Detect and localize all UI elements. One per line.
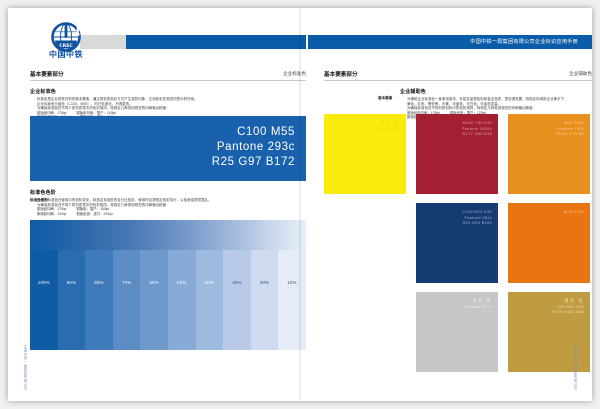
swatch-orange-light: M50 Y100Pantone 152cR255 G76 B0 (508, 114, 590, 194)
tint-specs-row-2: 新闻纸印刷：100lpi 铜版纸张：进口：200lpi (30, 212, 306, 217)
tint-swatch: 60% (140, 250, 168, 350)
swatch-spec: M50 Y100Pantone 152cR255 G76 B0 (556, 120, 584, 137)
tint-swatch-label: 20% (251, 280, 279, 285)
swatch-row: 黄色 黄Pantone 012cM100 Y80 K30Pantone 1805… (324, 114, 592, 194)
swatch-spec: M70 Y100 (564, 209, 584, 215)
left-section-tag: 企业标准色 (283, 71, 306, 77)
edge-mark-left: 中国中铁一局集团有限公司 (23, 345, 27, 391)
auxiliary-side-label: 基本要素 (378, 96, 392, 101)
edge-mark-right: 中国中铁一局集团有限公司 (573, 345, 577, 391)
tint-swatch-label: 10% (278, 280, 306, 285)
primary-color-swatch: C100 M55 Pantone 293c R25 G97 B172 (30, 116, 306, 181)
tint-swatch: 100% (30, 250, 58, 350)
swatch-spec-line: M100 Y80 K30 (462, 120, 492, 126)
swatch-spec: 银色 银Pantone 877c (464, 298, 492, 309)
swatch-crimson: M100 Y80 K30Pantone 1805cR177 G60 B18 (416, 114, 498, 194)
spec-item: 铜版纸张：进口：200lpi (76, 212, 112, 217)
swatch-gold: 黄色 金C30 M40 Y90R179 G132 B38 (508, 292, 590, 372)
standard-color-heading: 企业标准色 (30, 88, 306, 95)
tint-swatch-label: 100% (30, 280, 58, 285)
swatch-spec: C100 M75 K30Pantone 281cR10 G29 B100 (462, 209, 492, 226)
tint-swatch: 30% (223, 250, 251, 350)
tint-swatch: 40% (196, 250, 224, 350)
brand-manual-spread-page: 中国中铁一局集团有限公司企业标识应用手册 CREC 中国中铁 (0, 0, 600, 409)
tint-scale-side-label: 标准色色阶 (30, 198, 48, 203)
swatch-spec-line: Pantone 877c (464, 304, 492, 310)
right-section-tag: 企业辅助色 (569, 71, 592, 77)
swatch-cell-empty (324, 292, 406, 372)
swatch-row: 银色 银Pantone 877c黄色 金C30 M40 Y90R179 G132… (324, 292, 592, 372)
swatch-spec-line: M70 Y100 (564, 209, 584, 215)
auxiliary-line-1: 为辅助企业标准色一身家用宣传、补贴变量是色彩和复合品质，是协调充要，特规定际域用… (400, 97, 592, 102)
right-section-rule (324, 80, 592, 81)
tint-scale-heading: 标准色色阶 (30, 189, 306, 196)
tint-scale-strip: 100%90%80%70%60%50%40%30%20%10% (30, 250, 306, 350)
swatch-orange-deep: M70 Y100 (508, 203, 590, 283)
tint-swatch: 50% (168, 250, 196, 350)
swatch-spec: 黄色 黄Pantone 012c (372, 120, 400, 131)
swatch-spec-line: R177 G60 B18 (462, 131, 492, 137)
tint-swatch-label: 70% (113, 280, 141, 285)
swatch-spec-line: R179 G132 B38 (552, 309, 584, 315)
tint-swatch-label: 80% (85, 280, 113, 285)
swatch-spec: M100 Y80 K30Pantone 1805cR177 G60 B18 (462, 120, 492, 137)
svg-text:CREC: CREC (59, 43, 73, 49)
tint-swatch: 90% (58, 250, 86, 350)
tint-swatch: 10% (278, 250, 306, 350)
left-section-title: 基本要素部分 (30, 70, 64, 78)
swatch-spec-line: R10 G29 B100 (462, 220, 492, 226)
swatch-spec: 黄色 金C30 M40 Y90R179 G132 B38 (552, 298, 584, 315)
tint-swatch-label: 30% (223, 280, 251, 285)
swatch-spec-line: Pantone 012c (372, 126, 400, 132)
swatch-silver: 银色 银Pantone 877c (416, 292, 498, 372)
tint-swatch: 20% (251, 250, 279, 350)
auxiliary-color-heading: 企业辅助色 (400, 88, 592, 95)
auxiliary-swatch-grid: 黄色 黄Pantone 012cM100 Y80 K30Pantone 1805… (324, 114, 592, 381)
left-section-rule (30, 80, 306, 81)
swatch-cell-empty (324, 203, 406, 283)
tint-gradient-band (30, 220, 306, 250)
swatch-navy: C100 M75 K30Pantone 281cR10 G29 B100 (416, 203, 498, 283)
tint-swatch: 80% (85, 250, 113, 350)
tint-swatch-label: 40% (196, 280, 224, 285)
swatch-row: C100 M75 K30Pantone 281cR10 G29 B100M70 … (324, 203, 592, 283)
right-section-header: 基本要素部分 企业辅助色 (324, 70, 592, 82)
tint-swatch-label: 60% (140, 280, 168, 285)
tint-swatch: 70% (113, 250, 141, 350)
primary-color-spec: C100 M55 Pantone 293c R25 G97 B172 (212, 125, 295, 170)
center-gutter (299, 8, 301, 401)
swatch-spec-line: C100 M75 K30 (462, 209, 492, 215)
tint-scale-intro: 标准色色阶 为便于标准色在使用中的色阶变化，特选定标准色的百分比色阶，使用时应按… (30, 189, 306, 216)
tint-swatch-label: 90% (58, 280, 86, 285)
header-bar-left (126, 35, 306, 49)
spec-item: 新闻纸印刷：100lpi (37, 212, 66, 217)
primary-cmyk: C100 M55 (212, 125, 295, 140)
left-section-header: 基本要素部分 企业标准色 (30, 70, 306, 82)
manual-title: 中国中铁一局集团有限公司企业标识应用手册 (470, 37, 578, 47)
logo-wordmark: 中国中铁 (38, 49, 94, 60)
right-section-title: 基本要素部分 (324, 70, 358, 78)
primary-rgb: R25 G97 B172 (212, 155, 295, 170)
primary-pantone: Pantone 293c (212, 140, 295, 155)
swatch-yellow: 黄色 黄Pantone 012c (324, 114, 406, 194)
tint-swatch-label: 50% (168, 280, 196, 285)
swatch-spec-line: R255 G76 B0 (556, 131, 584, 137)
